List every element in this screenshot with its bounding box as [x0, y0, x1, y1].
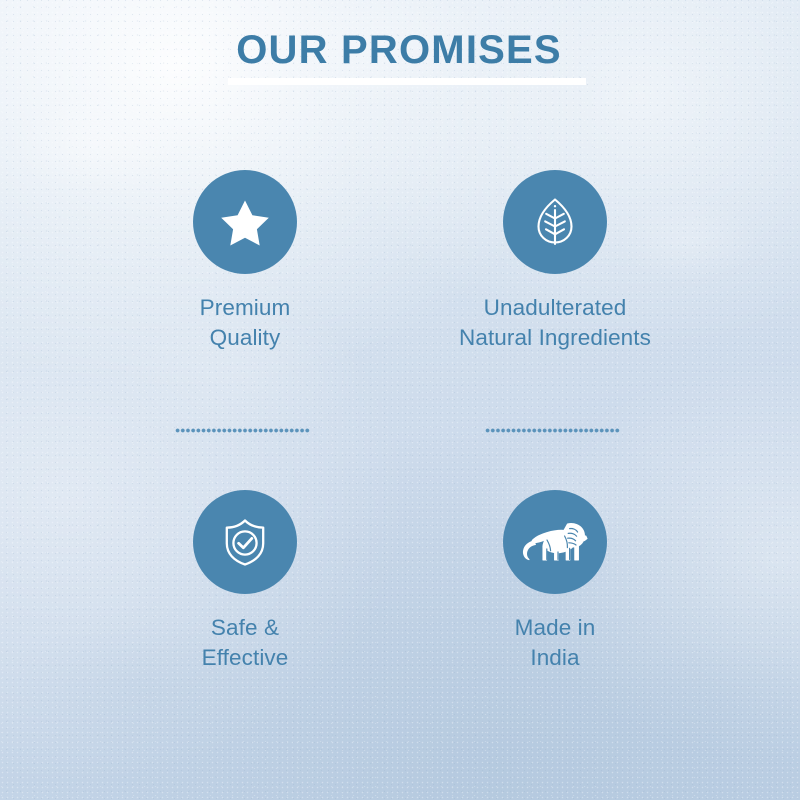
promise-item-premium-quality[interactable]: Premium Quality: [80, 170, 410, 354]
promise-label: Premium Quality: [80, 293, 410, 354]
dotted-divider-right: [485, 428, 620, 433]
shield-check-icon: [216, 513, 274, 571]
promise-item-natural-ingredients[interactable]: Unadulterated Natural Ingredients: [390, 170, 720, 354]
promise-label-line-1: Premium: [80, 293, 410, 323]
promise-icon-circle: [503, 490, 607, 594]
promise-label-line-1: Safe &: [80, 613, 410, 643]
promise-label-line-2: India: [390, 643, 720, 673]
promise-label-line-1: Unadulterated: [390, 293, 720, 323]
promise-label-line-2: Quality: [80, 323, 410, 353]
lion-icon: [521, 516, 589, 568]
promise-label-line-1: Made in: [390, 613, 720, 643]
promise-label: Unadulterated Natural Ingredients: [390, 293, 720, 354]
promises-panel: OUR PROMISES Premium Quality: [0, 0, 800, 800]
promise-icon-circle: [503, 170, 607, 274]
promise-item-made-in-india[interactable]: Made in India: [390, 490, 720, 674]
dotted-divider-left: [175, 428, 310, 433]
promise-label-line-2: Effective: [80, 643, 410, 673]
header: OUR PROMISES: [0, 30, 800, 70]
promise-icon-circle: [193, 170, 297, 274]
promise-item-safe-effective[interactable]: Safe & Effective: [80, 490, 410, 674]
promise-grid: Premium Quality: [0, 170, 800, 710]
leaf-icon: [526, 193, 584, 251]
promise-label-line-2: Natural Ingredients: [390, 323, 720, 353]
promise-icon-circle: [193, 490, 297, 594]
title-underline: [228, 78, 586, 85]
page-title: OUR PROMISES: [234, 30, 566, 70]
promise-label: Made in India: [390, 613, 720, 674]
star-icon: [217, 194, 273, 250]
promise-label: Safe & Effective: [80, 613, 410, 674]
